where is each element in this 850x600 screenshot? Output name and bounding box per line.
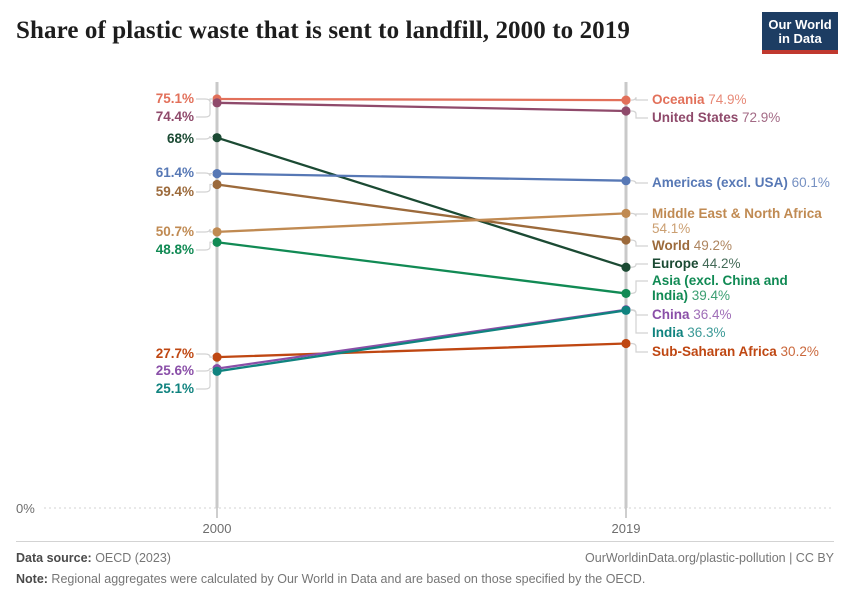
data-source-text: Data source: OECD (2023) bbox=[16, 551, 171, 565]
series-label-name: India bbox=[652, 325, 684, 340]
series-point-start[interactable] bbox=[212, 227, 221, 236]
series-sub-saharan-africa[interactable] bbox=[212, 339, 630, 362]
right-label-connector bbox=[631, 181, 648, 184]
left-value-label: 48.8% bbox=[156, 242, 194, 257]
left-label-connector bbox=[196, 136, 213, 139]
series-point-start[interactable] bbox=[212, 367, 221, 376]
series-label-value: 30.2% bbox=[777, 344, 819, 359]
left-value-label: 25.6% bbox=[156, 363, 194, 378]
left-label-connector bbox=[196, 371, 213, 389]
left-value-label: 27.7% bbox=[156, 346, 194, 361]
x-axis-tick-2019: 2019 bbox=[586, 521, 666, 536]
left-label-connector bbox=[196, 185, 213, 192]
series-label[interactable]: India 36.3% bbox=[652, 325, 726, 340]
series-point-end[interactable] bbox=[621, 176, 630, 185]
left-label-connector bbox=[196, 354, 213, 357]
series-label-name: World bbox=[652, 238, 690, 253]
series-label[interactable]: World 49.2% bbox=[652, 238, 732, 253]
series-label-name: Americas (excl. USA) bbox=[652, 175, 788, 190]
left-label-connector bbox=[196, 368, 213, 371]
source-url-link[interactable]: OurWorldinData.org/plastic-pollution | C… bbox=[585, 551, 834, 565]
series-india[interactable] bbox=[212, 306, 630, 376]
series-point-end[interactable] bbox=[621, 95, 630, 104]
series-label-value: 72.9% bbox=[738, 110, 780, 125]
series-point-end[interactable] bbox=[621, 289, 630, 298]
series-point-end[interactable] bbox=[621, 106, 630, 115]
series-line[interactable] bbox=[217, 185, 626, 241]
right-label-connector bbox=[631, 213, 648, 216]
right-label-connector bbox=[631, 281, 648, 293]
left-value-label: 68% bbox=[167, 131, 194, 146]
series-label[interactable]: Middle East & North Africa 54.1% bbox=[652, 206, 827, 236]
series-label-value: 49.2% bbox=[690, 238, 732, 253]
series-point-end[interactable] bbox=[621, 263, 630, 272]
series-label-value: 54.1% bbox=[652, 221, 690, 236]
series-label[interactable]: Europe 44.2% bbox=[652, 256, 741, 271]
series-americas-excl-usa[interactable] bbox=[212, 169, 630, 185]
series-line[interactable] bbox=[217, 310, 626, 371]
left-value-label: 59.4% bbox=[156, 184, 194, 199]
left-label-connector bbox=[196, 99, 213, 102]
series-line[interactable] bbox=[217, 138, 626, 268]
chart-note-text: Note: Regional aggregates were calculate… bbox=[16, 572, 645, 586]
series-point-start[interactable] bbox=[212, 133, 221, 142]
right-label-connector bbox=[631, 97, 648, 100]
series-europe[interactable] bbox=[212, 133, 630, 272]
left-value-label: 75.1% bbox=[156, 91, 194, 106]
left-value-label: 61.4% bbox=[156, 165, 194, 180]
series-label-name: Oceania bbox=[652, 92, 705, 107]
series-label-name: China bbox=[652, 307, 690, 322]
series-line[interactable] bbox=[217, 242, 626, 293]
series-label-name: United States bbox=[652, 110, 738, 125]
left-label-connector bbox=[196, 229, 213, 232]
note-prefix: Note: bbox=[16, 572, 48, 586]
series-label-name: Europe bbox=[652, 256, 699, 271]
left-label-connector bbox=[196, 103, 213, 117]
data-source-prefix: Data source: bbox=[16, 551, 92, 565]
series-world[interactable] bbox=[212, 180, 630, 245]
series-line[interactable] bbox=[217, 103, 626, 111]
series-label[interactable]: United States 72.9% bbox=[652, 110, 780, 125]
series-label[interactable]: Sub-Saharan Africa 30.2% bbox=[652, 344, 819, 359]
series-line[interactable] bbox=[217, 99, 626, 100]
series-label-name: Middle East & North Africa bbox=[652, 206, 822, 221]
series-label-value: 60.1% bbox=[788, 175, 830, 190]
series-point-start[interactable] bbox=[212, 98, 221, 107]
series-point-end[interactable] bbox=[621, 339, 630, 348]
chart-page: Share of plastic waste that is sent to l… bbox=[0, 0, 850, 600]
series-label-value: 74.9% bbox=[705, 92, 747, 107]
series-label-value: 36.4% bbox=[690, 307, 732, 322]
series-point-start[interactable] bbox=[212, 180, 221, 189]
right-label-connector bbox=[631, 264, 648, 267]
series-point-end[interactable] bbox=[621, 306, 630, 315]
series-label[interactable]: China 36.4% bbox=[652, 307, 732, 322]
series-asia-excl-china-and-india[interactable] bbox=[212, 238, 630, 298]
right-label-connector bbox=[631, 240, 648, 246]
series-line[interactable] bbox=[217, 344, 626, 358]
series-point-start[interactable] bbox=[212, 353, 221, 362]
series-point-end[interactable] bbox=[621, 235, 630, 244]
series-label-value: 36.3% bbox=[684, 325, 726, 340]
left-value-label: 25.1% bbox=[156, 381, 194, 396]
series-point-end[interactable] bbox=[621, 209, 630, 218]
series-line[interactable] bbox=[217, 174, 626, 181]
note-body: Regional aggregates were calculated by O… bbox=[48, 572, 645, 586]
right-label-connector bbox=[631, 111, 648, 118]
series-point-start[interactable] bbox=[212, 238, 221, 247]
series-point-start[interactable] bbox=[212, 169, 221, 178]
series-line[interactable] bbox=[217, 213, 626, 232]
left-value-label: 74.4% bbox=[156, 109, 194, 124]
series-label-name: Sub-Saharan Africa bbox=[652, 344, 777, 359]
x-axis-tick-2000: 2000 bbox=[177, 521, 257, 536]
series-label-value: 39.4% bbox=[688, 288, 730, 303]
y-axis-zero-label: 0% bbox=[16, 501, 35, 516]
right-label-connector bbox=[631, 310, 648, 333]
series-label[interactable]: Americas (excl. USA) 60.1% bbox=[652, 175, 830, 190]
series-label[interactable]: Asia (excl. China and India) 39.4% bbox=[652, 273, 827, 303]
footer-divider bbox=[16, 541, 834, 542]
left-label-connector bbox=[196, 173, 213, 176]
right-label-connector bbox=[631, 344, 648, 352]
data-source-value: OECD (2023) bbox=[92, 551, 171, 565]
series-label[interactable]: Oceania 74.9% bbox=[652, 92, 747, 107]
left-label-connector bbox=[196, 242, 213, 250]
series-label-value: 44.2% bbox=[699, 256, 741, 271]
left-value-label: 50.7% bbox=[156, 224, 194, 239]
